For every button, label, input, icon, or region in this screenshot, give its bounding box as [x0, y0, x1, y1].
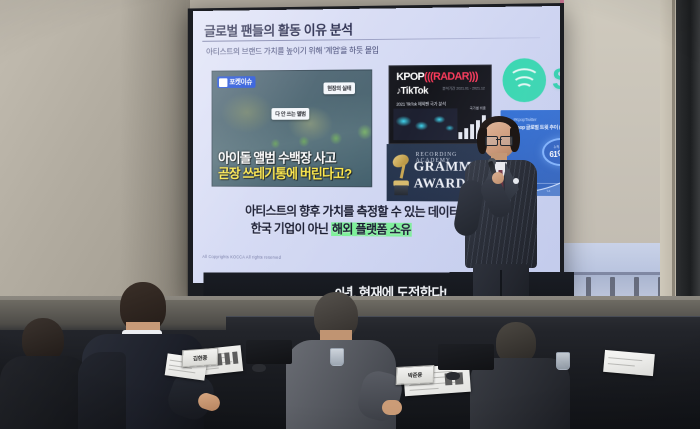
- screenshot-root: 글로벌 팬들의 활동 이유 분석 아티스트의 브랜드 가치를 높이기 위해 '계…: [0, 0, 700, 429]
- laptop-device[interactable]: [438, 344, 494, 370]
- water-glass[interactable]: [330, 348, 344, 366]
- audience-person-right: [470, 322, 566, 429]
- news-clip-image: 포켓이슈 다 안 쓰는 앨범 현장의 실태 아이돌 앨범 수백장 사고 곧장 쓰…: [212, 69, 373, 187]
- slide-body-highlight: 해외 플랫폼 소유: [331, 222, 412, 236]
- radar-logo-text: (((RADAR))): [424, 71, 478, 83]
- spotify-logo: Spotify®: [503, 53, 560, 106]
- radar-caption: 2021 TikTok 해외팬 국가 분석: [396, 102, 446, 108]
- news-badge-label: 포켓이슈: [229, 77, 252, 87]
- slide-body-line-2-prefix: 한국 기업이 아닌: [251, 222, 331, 236]
- glasses-icon: [485, 136, 513, 144]
- presenter-hand: [492, 172, 504, 184]
- document-papers[interactable]: [603, 350, 655, 376]
- window-rail: [563, 272, 675, 275]
- slide-subtitle: 아티스트의 브랜드 가치를 높이기 위해 '계엄'을 하듯 몰입: [206, 44, 379, 57]
- news-clip-tag-1: 다 안 쓰는 앨범: [271, 108, 309, 120]
- column-dark-panel: [676, 0, 700, 330]
- spotify-mark-icon: [503, 58, 547, 102]
- radar-bar-label: 국가별 비중: [470, 105, 486, 110]
- news-clip-badge: 포켓이슈: [217, 76, 255, 88]
- news-headline-line2: 곧장 쓰레기통에 버린다고?: [218, 162, 351, 182]
- radar-world-map: [393, 108, 457, 140]
- wall-shadow: [120, 0, 190, 300]
- mouse-device[interactable]: [252, 364, 266, 372]
- news-clip-tag-2: 현장의 실태: [323, 82, 355, 94]
- tiktok-logo: ♪TikTok: [396, 86, 428, 97]
- kpop-logo-text: KPOP: [396, 71, 424, 83]
- slide-title: 글로벌 팬들의 활동 이유 분석: [204, 19, 353, 40]
- name-placard-label: 박준용: [408, 371, 423, 380]
- tiktok-label: TikTok: [401, 86, 428, 97]
- kpop-radar-logo: KPOP(((RADAR))): [396, 71, 478, 83]
- water-glass[interactable]: [556, 352, 570, 370]
- radar-meta: 분석기간 2021.01 - 2021.12: [442, 86, 484, 92]
- mouse-device[interactable]: [446, 372, 460, 380]
- audience-person-left-edge: [0, 318, 86, 429]
- spotify-wordmark-text: Spotify: [552, 62, 560, 96]
- slide-footer-copyright: All Copyrights KOCCA All rights reserved: [202, 254, 281, 260]
- spotify-wordmark: Spotify®: [552, 62, 560, 97]
- slide-body-line-2: 한국 기업이 아닌 해외 플랫폼 소유: [251, 218, 412, 238]
- badge-square-icon: [219, 78, 227, 87]
- gramophone-icon: [390, 153, 411, 196]
- name-placard-label: 김현종: [193, 353, 207, 362]
- name-placard: 박준용: [396, 365, 435, 385]
- presenter: [455, 120, 551, 316]
- presenter-lapel-pin: [513, 178, 519, 184]
- name-placard: 김현종: [182, 348, 218, 368]
- laptop-device[interactable]: [246, 340, 292, 364]
